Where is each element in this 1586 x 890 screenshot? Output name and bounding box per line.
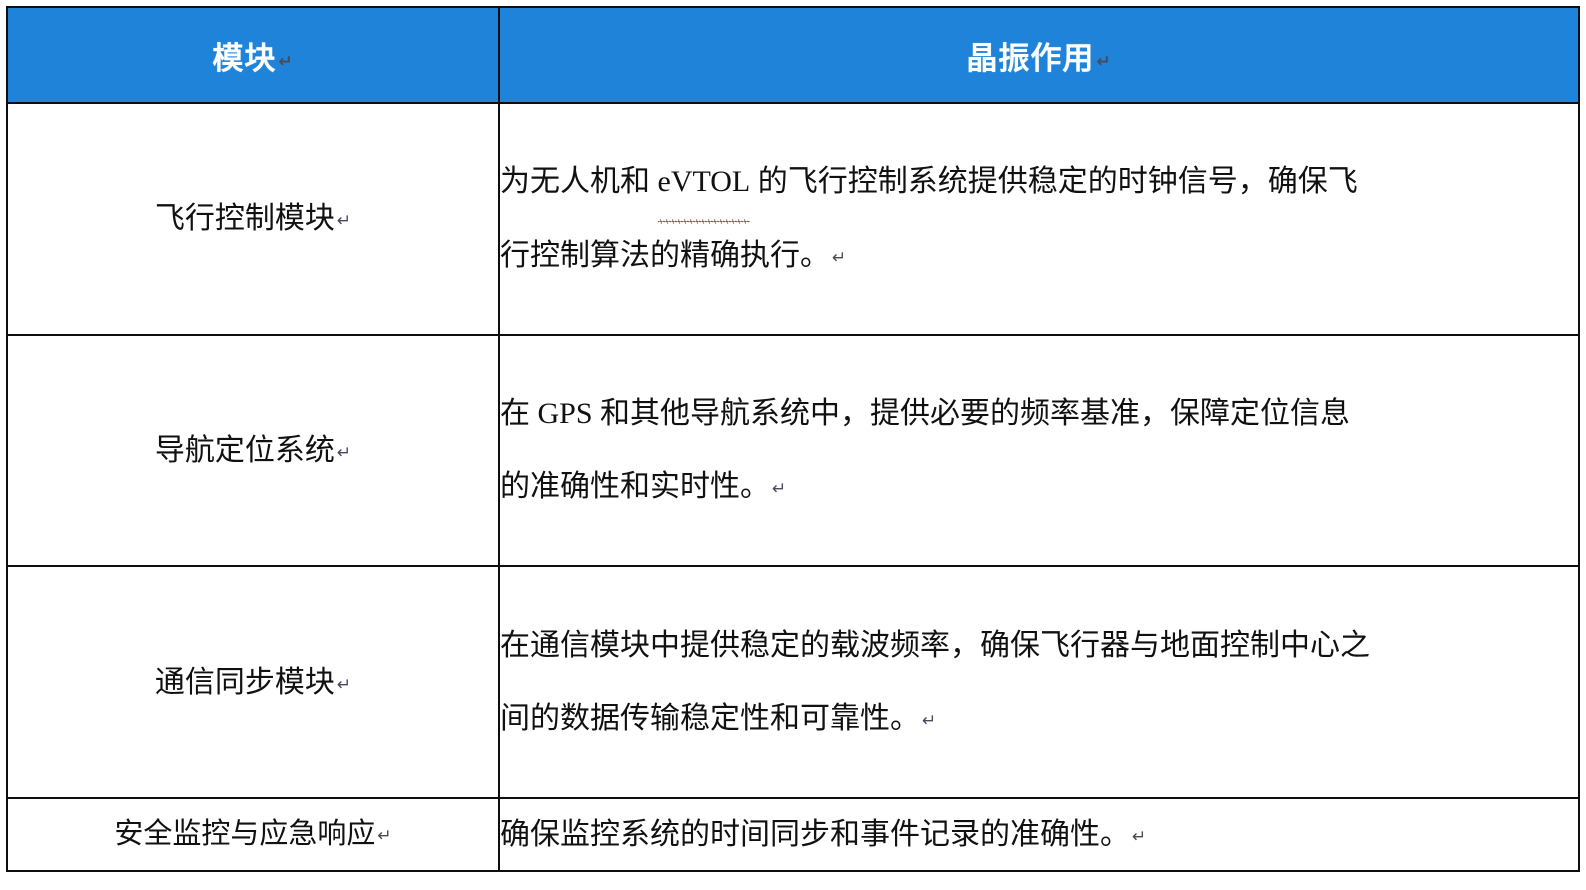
- pilcrow-icon: ↵: [377, 826, 391, 846]
- role-text: 在 GPS 和其他导航系统中，提供必要的频率基准，保障定位信息的准确性和实时性。…: [500, 377, 1578, 524]
- table-header-row: 模块↵ 晶振作用↵: [7, 7, 1579, 103]
- role-text-segment: 为无人机和: [500, 165, 658, 198]
- cell-role: 为无人机和 eVTOL 的飞行控制系统提供稳定的时钟信号，确保飞行控制算法的精确…: [499, 103, 1579, 335]
- pilcrow-icon: ↵: [772, 479, 786, 499]
- table-row: 飞行控制模块↵为无人机和 eVTOL 的飞行控制系统提供稳定的时钟信号，确保飞行…: [7, 103, 1579, 335]
- column-header-role-label: 晶振作用: [966, 33, 1094, 78]
- module-name: 导航定位系统: [155, 434, 335, 467]
- role-text-segment: 的准确性和实时性。: [500, 470, 770, 503]
- role-text-segment: 确保监控系统的时间同步和事件记录的准确性。: [500, 818, 1130, 851]
- role-text-segment: 行控制算法的精确执行。: [500, 239, 830, 272]
- cell-module: 通信同步模块↵: [7, 566, 499, 798]
- module-name: 安全监控与应急响应: [114, 818, 375, 850]
- pilcrow-icon: ↵: [922, 711, 936, 731]
- role-text-line: 间的数据传输稳定性和可靠性。↵: [500, 682, 1578, 756]
- cell-module: 导航定位系统↵: [7, 335, 499, 567]
- role-text-line: 行控制算法的精确执行。↵: [500, 219, 1578, 293]
- pilcrow-icon: ↵: [337, 675, 351, 695]
- table-body: 飞行控制模块↵为无人机和 eVTOL 的飞行控制系统提供稳定的时钟信号，确保飞行…: [7, 103, 1579, 871]
- table-container: 模块↵ 晶振作用↵ 飞行控制模块↵为无人机和 eVTOL 的飞行控制系统提供稳定…: [6, 6, 1578, 872]
- column-header-module-label: 模块: [212, 33, 276, 78]
- table-row: 导航定位系统↵在 GPS 和其他导航系统中，提供必要的频率基准，保障定位信息的准…: [7, 335, 1579, 567]
- cell-role: 确保监控系统的时间同步和事件记录的准确性。↵: [499, 798, 1579, 871]
- pilcrow-icon: ↵: [337, 443, 351, 463]
- role-text-segment: 在 GPS 和其他导航系统中，提供必要的频率基准，保障定位信息: [500, 397, 1350, 430]
- module-name: 飞行控制模块: [155, 202, 335, 235]
- role-text-line: 的准确性和实时性。↵: [500, 450, 1578, 524]
- role-text-segment: 间的数据传输稳定性和可靠性。: [500, 702, 920, 735]
- crystal-oscillator-role-table: 模块↵ 晶振作用↵ 飞行控制模块↵为无人机和 eVTOL 的飞行控制系统提供稳定…: [6, 6, 1580, 872]
- pilcrow-icon: ↵: [1096, 52, 1111, 72]
- document-page: 模块↵ 晶振作用↵ 飞行控制模块↵为无人机和 eVTOL 的飞行控制系统提供稳定…: [0, 0, 1586, 890]
- role-text: 确保监控系统的时间同步和事件记录的准确性。↵: [500, 812, 1578, 857]
- column-header-module: 模块↵: [7, 7, 499, 103]
- role-text: 在通信模块中提供稳定的载波频率，确保飞行器与地面控制中心之间的数据传输稳定性和可…: [500, 609, 1578, 756]
- role-text: 为无人机和 eVTOL 的飞行控制系统提供稳定的时钟信号，确保飞行控制算法的精确…: [500, 145, 1578, 292]
- table-header: 模块↵ 晶振作用↵: [7, 7, 1579, 103]
- role-text-line: 为无人机和 eVTOL 的飞行控制系统提供稳定的时钟信号，确保飞: [500, 145, 1578, 219]
- role-text-line: 在通信模块中提供稳定的载波频率，确保飞行器与地面控制中心之: [500, 609, 1578, 683]
- module-name: 通信同步模块: [155, 666, 335, 699]
- role-text-segment: 的飞行控制系统提供稳定的时钟信号，确保飞: [750, 165, 1358, 198]
- role-text-line: 确保监控系统的时间同步和事件记录的准确性。↵: [500, 812, 1578, 857]
- pilcrow-icon: ↵: [337, 211, 351, 231]
- spellcheck-underlined-word[interactable]: eVTOL: [658, 145, 751, 219]
- role-text-segment: 在通信模块中提供稳定的载波频率，确保飞行器与地面控制中心之: [500, 629, 1370, 662]
- cell-role: 在通信模块中提供稳定的载波频率，确保飞行器与地面控制中心之间的数据传输稳定性和可…: [499, 566, 1579, 798]
- cell-role: 在 GPS 和其他导航系统中，提供必要的频率基准，保障定位信息的准确性和实时性。…: [499, 335, 1579, 567]
- cell-module: 安全监控与应急响应↵: [7, 798, 499, 871]
- pilcrow-icon: ↵: [1132, 827, 1146, 847]
- table-row: 通信同步模块↵在通信模块中提供稳定的载波频率，确保飞行器与地面控制中心之间的数据…: [7, 566, 1579, 798]
- pilcrow-icon: ↵: [832, 248, 846, 268]
- role-text-line: 在 GPS 和其他导航系统中，提供必要的频率基准，保障定位信息: [500, 377, 1578, 451]
- pilcrow-icon: ↵: [278, 52, 293, 72]
- table-row: 安全监控与应急响应↵确保监控系统的时间同步和事件记录的准确性。↵: [7, 798, 1579, 871]
- cell-module: 飞行控制模块↵: [7, 103, 499, 335]
- column-header-role: 晶振作用↵: [499, 7, 1579, 103]
